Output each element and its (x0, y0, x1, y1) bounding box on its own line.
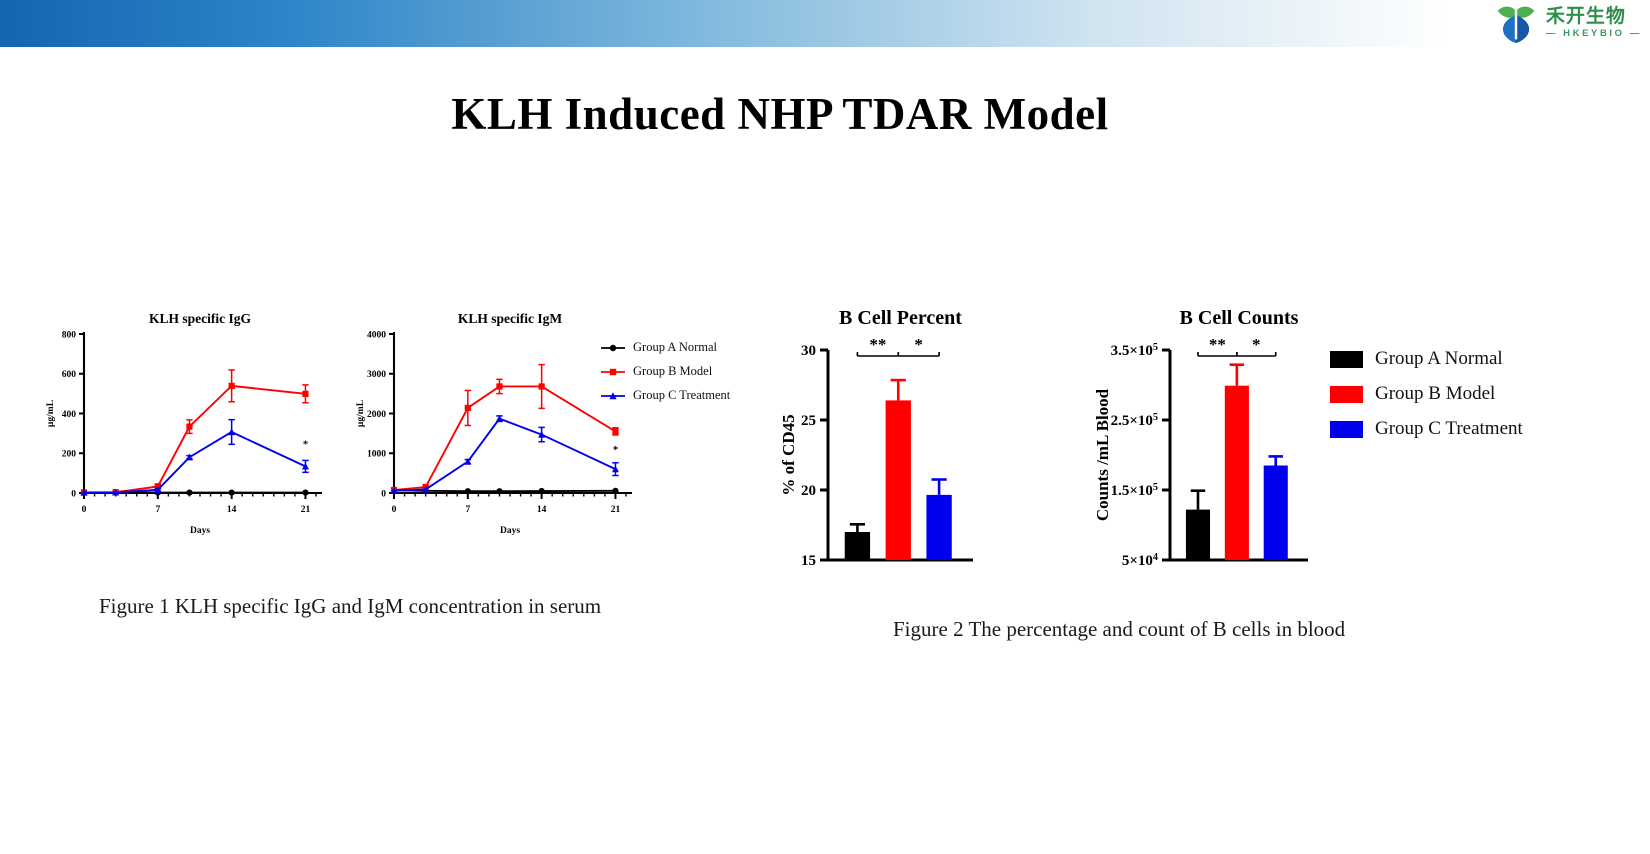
significance-bracket: * (1237, 335, 1276, 356)
data-point-marker (186, 424, 192, 430)
legend-item: Group A Normal (1330, 348, 1523, 370)
x-tick-label: 21 (301, 505, 311, 515)
y-tick-label: 800 (62, 330, 77, 340)
brand-logo: 禾开生物 — HKEYBIO — (1495, 2, 1642, 44)
legend-color-swatch (1330, 421, 1363, 438)
y-axis-label: % of CD45 (779, 414, 798, 495)
legend-symbol-square (600, 366, 626, 378)
line-chart-legend: Group A NormalGroup B ModelGroup C Treat… (600, 340, 730, 403)
y-tick-label: 0 (381, 489, 386, 499)
bar-group-c-treatment (1264, 456, 1288, 560)
y-tick-label: 3.5×105 (1111, 342, 1158, 360)
y-tick-label: 2000 (367, 410, 386, 420)
x-tick-label: 21 (611, 505, 621, 515)
data-point-marker (302, 391, 308, 397)
x-axis-label: Days (500, 526, 520, 536)
x-tick-label: 0 (392, 505, 397, 515)
data-point-marker (612, 488, 618, 494)
chart-title: KLH specific IgG (149, 311, 251, 326)
leaf-shield-logo-icon (1495, 3, 1537, 43)
brand-text: 禾开生物 — HKEYBIO — (1546, 7, 1642, 39)
legend-symbol-circle (600, 342, 626, 354)
series-group-b-model (81, 370, 309, 496)
data-point-marker (539, 383, 545, 389)
significance-label: ** (869, 335, 886, 354)
bar-group-a-normal (845, 524, 870, 560)
y-axis-label: µg/mL (46, 400, 56, 427)
chart-title: B Cell Counts (1180, 307, 1299, 329)
significance-marker: * (303, 440, 308, 451)
y-tick-label: 2.5×105 (1111, 412, 1158, 430)
data-point-marker (610, 344, 616, 350)
brand-name-en: — HKEYBIO — (1546, 29, 1642, 39)
series-group-c-treatment (391, 415, 619, 494)
series-line (394, 419, 615, 491)
figure-2-caption: Figure 2 The percentage and count of B c… (893, 617, 1345, 642)
legend-color-swatch (1330, 386, 1363, 403)
series-group-c-treatment (81, 420, 309, 496)
y-tick-label: 3000 (367, 370, 386, 380)
data-point-marker (186, 490, 192, 496)
header-bar (0, 0, 1650, 47)
legend-label: Group A Normal (1375, 348, 1503, 370)
legend-symbol-triangle (600, 390, 626, 402)
data-point-marker (186, 454, 193, 461)
bar-group-a-normal (1186, 491, 1210, 560)
y-tick-label: 25 (801, 413, 816, 429)
x-tick-label: 14 (537, 505, 547, 515)
x-tick-label: 7 (465, 505, 470, 515)
data-point-marker (539, 488, 545, 494)
legend-item: Group C Treatment (600, 388, 730, 403)
data-point-marker (302, 490, 308, 496)
significance-label: * (914, 335, 923, 354)
x-tick-label: 14 (227, 505, 237, 515)
y-tick-label: 1000 (367, 450, 386, 460)
y-tick-label: 5×104 (1122, 552, 1158, 570)
data-point-marker (229, 490, 235, 496)
data-point-marker (610, 368, 616, 374)
significance-bracket: ** (857, 335, 898, 356)
bar-rect (886, 400, 911, 560)
bar-rect (1186, 510, 1210, 560)
chart-b-cell-percent: B Cell Percent15202530% of CD45*** (780, 295, 985, 585)
series-line (394, 386, 615, 490)
x-tick-label: 0 (82, 505, 87, 515)
chart-title: B Cell Percent (839, 307, 962, 329)
page-title: KLH Induced NHP TDAR Model (0, 88, 1560, 140)
legend-item: Group B Model (1330, 383, 1523, 405)
legend-label: Group C Treatment (633, 388, 730, 403)
series-line (84, 386, 305, 493)
y-tick-label: 200 (62, 450, 77, 460)
significance-bracket: ** (1198, 335, 1237, 356)
bar-group-b-model (886, 380, 911, 560)
bar-chart-legend: Group A NormalGroup B ModelGroup C Treat… (1330, 348, 1523, 440)
y-tick-label: 600 (62, 370, 77, 380)
data-point-marker (229, 383, 235, 389)
chart-b-cell-counts: B Cell Counts5×1041.5×1052.5×1053.5×105C… (1090, 295, 1320, 585)
series-line (84, 432, 305, 493)
legend-item: Group A Normal (600, 340, 730, 355)
data-point-marker (496, 383, 502, 389)
data-point-marker (612, 428, 618, 434)
bar-group-b-model (1225, 365, 1249, 560)
brand-name-cn: 禾开生物 (1546, 7, 1642, 26)
legend-label: Group B Model (633, 364, 712, 379)
y-tick-label: 400 (62, 410, 77, 420)
bar-rect (1225, 386, 1249, 560)
y-axis-label: Counts /mL Blood (1093, 388, 1112, 521)
legend-item: Group B Model (600, 364, 730, 379)
y-tick-label: 1.5×105 (1111, 482, 1158, 500)
data-point-marker (465, 405, 471, 411)
figure-1-caption: Figure 1 KLH specific IgG and IgM concen… (99, 594, 601, 619)
x-tick-label: 7 (155, 505, 160, 515)
y-tick-label: 15 (801, 553, 816, 569)
bar-group-c-treatment (926, 480, 951, 561)
data-point-marker (496, 488, 502, 494)
bar-rect (845, 532, 870, 560)
x-axis-label: Days (190, 526, 210, 536)
bar-rect (1264, 466, 1288, 561)
significance-label: ** (1209, 335, 1226, 354)
bar-rect (926, 495, 951, 560)
y-tick-label: 20 (801, 483, 816, 499)
data-point-marker (228, 428, 235, 435)
legend-item: Group C Treatment (1330, 418, 1523, 440)
y-tick-label: 4000 (367, 330, 386, 340)
series-group-b-model (391, 365, 619, 494)
legend-color-swatch (1330, 351, 1363, 368)
chart-title: KLH specific IgM (458, 311, 562, 326)
significance-label: * (1252, 335, 1261, 354)
y-axis-label: µg/mL (356, 400, 366, 427)
legend-label: Group A Normal (633, 340, 717, 355)
data-point-marker (465, 488, 471, 494)
chart-klh-specific-igg: KLH specific IgG0200400600800071421Daysµ… (40, 300, 330, 535)
y-tick-label: 0 (71, 489, 76, 499)
significance-bracket: * (898, 335, 939, 356)
legend-label: Group B Model (1375, 383, 1495, 405)
significance-marker: * (613, 445, 618, 456)
legend-label: Group C Treatment (1375, 418, 1523, 440)
y-tick-label: 30 (801, 343, 816, 359)
chart-klh-specific-igm: KLH specific IgM01000200030004000071421D… (350, 300, 640, 535)
